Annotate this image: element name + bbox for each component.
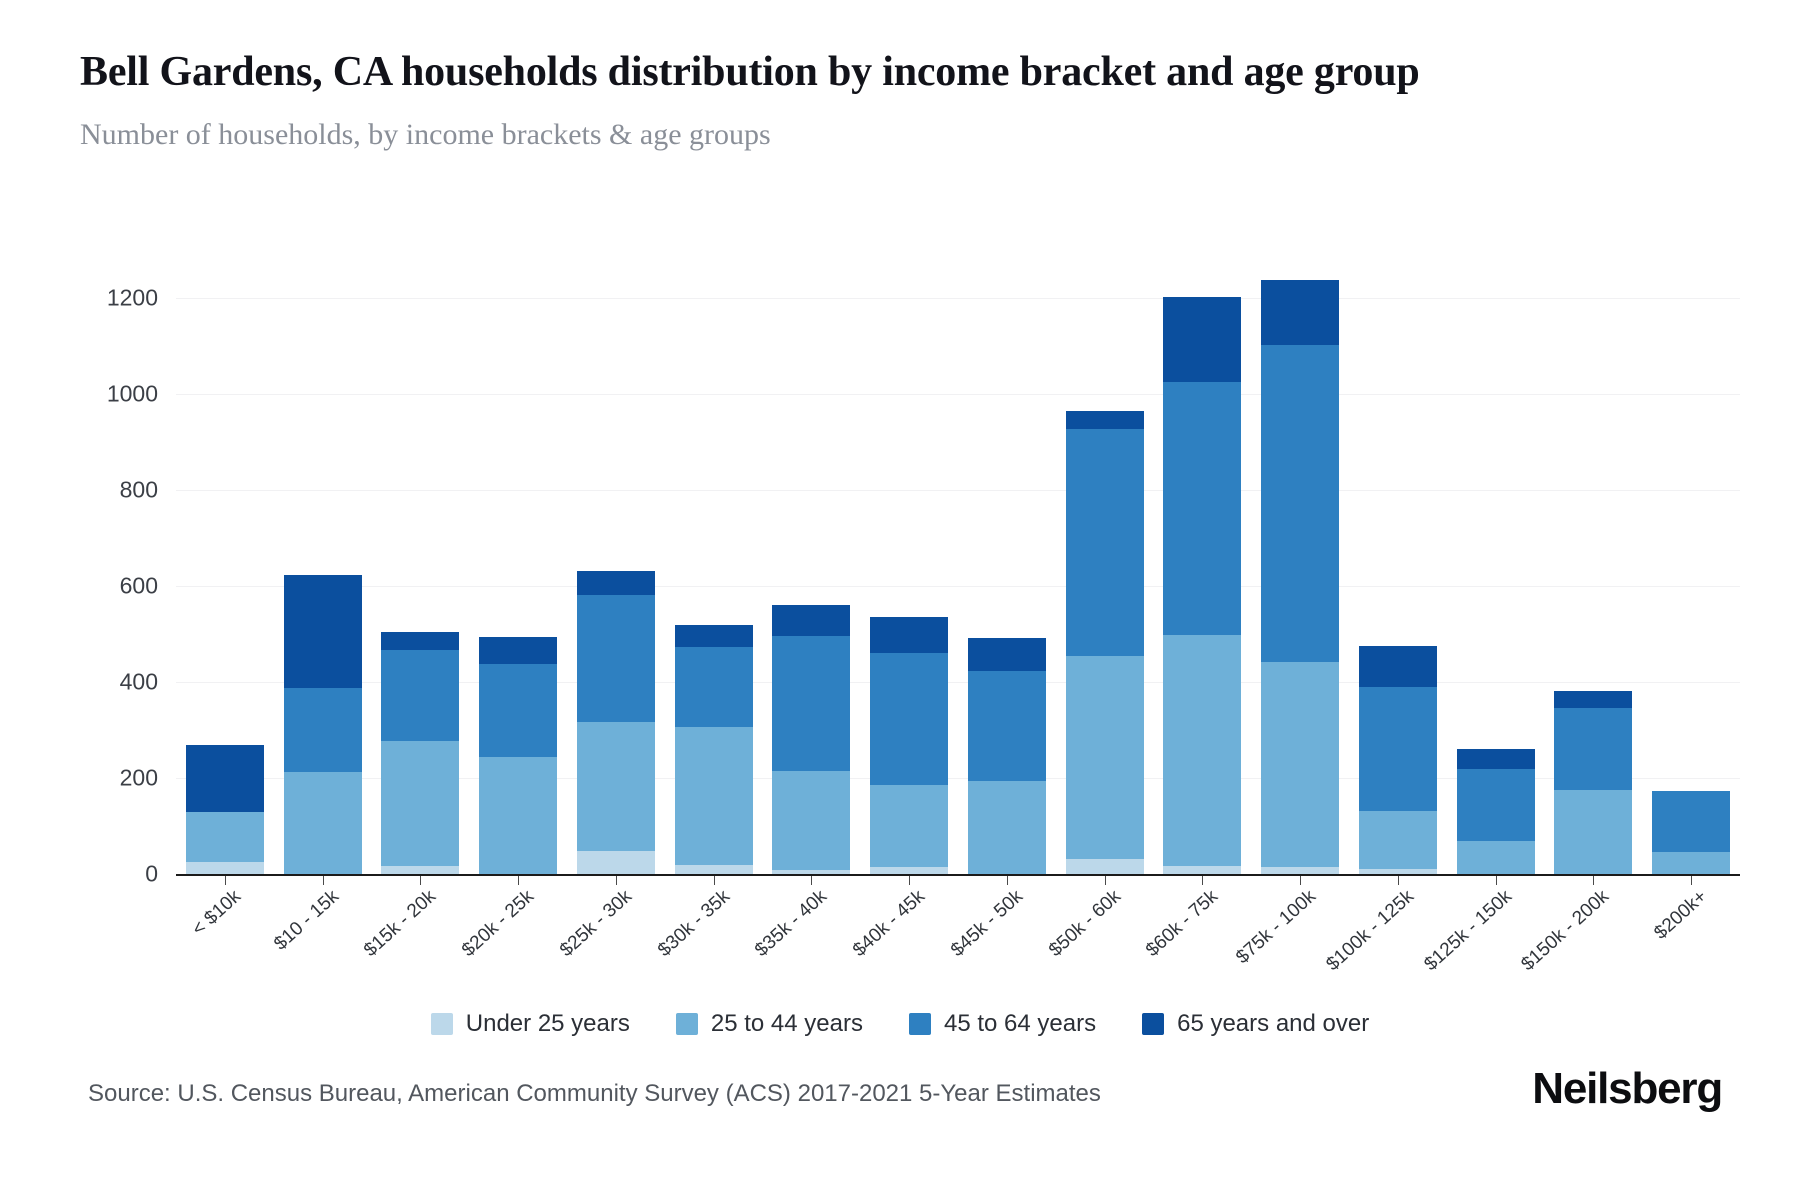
x-axis-label: $150k - 200k — [1518, 886, 1614, 976]
bar-segment[interactable] — [284, 575, 362, 687]
legend-item[interactable]: 45 to 64 years — [909, 1010, 1096, 1038]
x-axis-label: $25k - 30k — [556, 886, 637, 962]
bar-stack[interactable] — [577, 250, 655, 874]
bar-segment[interactable] — [186, 745, 264, 811]
x-axis-tick — [1300, 876, 1301, 885]
legend-swatch-icon — [431, 1013, 453, 1035]
bar-segment[interactable] — [1261, 867, 1339, 874]
bar-stack[interactable] — [1163, 250, 1241, 874]
bar-segment[interactable] — [479, 757, 557, 874]
x-axis-line — [176, 874, 1740, 876]
bar-stack[interactable] — [870, 250, 948, 874]
y-axis-tick-label: 400 — [120, 669, 158, 696]
x-axis-label: $10 - 15k — [270, 886, 344, 955]
bar-stack[interactable] — [479, 250, 557, 874]
legend-swatch-icon — [909, 1013, 931, 1035]
legend-item[interactable]: 25 to 44 years — [676, 1010, 863, 1038]
bar-segment[interactable] — [1261, 280, 1339, 344]
x-axis-label: $35k - 40k — [751, 886, 832, 962]
bar-stack[interactable] — [772, 250, 850, 874]
bar-segment[interactable] — [968, 638, 1046, 671]
legend-item[interactable]: 65 years and over — [1142, 1010, 1369, 1038]
bar-segment[interactable] — [577, 722, 655, 851]
bar-segment[interactable] — [284, 688, 362, 772]
x-axis-label: $15k - 20k — [360, 886, 441, 962]
bar-segment[interactable] — [1554, 790, 1632, 874]
x-axis-label: $75k - 100k — [1232, 886, 1321, 969]
bar-segment[interactable] — [1261, 662, 1339, 867]
bar-segment[interactable] — [381, 741, 459, 866]
x-axis-tick — [714, 876, 715, 885]
bar-stack[interactable] — [968, 250, 1046, 874]
x-axis-label: $30k - 35k — [654, 886, 735, 962]
bar-stack[interactable] — [284, 250, 362, 874]
x-axis-labels: < $10k$10 - 15k$15k - 20k$20k - 25k$25k … — [176, 886, 1740, 996]
bar-segment[interactable] — [1554, 691, 1632, 708]
x-axis-tick — [1691, 876, 1692, 885]
x-axis-tick — [323, 876, 324, 885]
bar-segment[interactable] — [1066, 656, 1144, 860]
bar-segment[interactable] — [186, 862, 264, 874]
plot-area: 020040060080010001200 < $10k$10 - 15k$15… — [80, 250, 1740, 920]
legend-label: 65 years and over — [1177, 1010, 1369, 1038]
bar-segment[interactable] — [772, 771, 850, 870]
bar-segment[interactable] — [1457, 749, 1535, 769]
x-axis-tick — [811, 876, 812, 885]
y-axis-tick-label: 1000 — [107, 381, 158, 408]
bar-segment[interactable] — [968, 671, 1046, 781]
chart-legend: Under 25 years25 to 44 years45 to 64 yea… — [0, 1010, 1800, 1038]
bar-segment[interactable] — [1554, 708, 1632, 791]
y-axis-tick-label: 600 — [120, 573, 158, 600]
legend-swatch-icon — [676, 1013, 698, 1035]
x-axis-label: $125k - 150k — [1420, 886, 1516, 976]
bar-stack[interactable] — [1457, 250, 1535, 874]
bar-segment[interactable] — [381, 632, 459, 650]
y-axis-tick-label: 800 — [120, 477, 158, 504]
bar-segment[interactable] — [675, 865, 753, 874]
x-axis-label: $45k - 50k — [947, 886, 1028, 962]
bar-stack[interactable] — [186, 250, 264, 874]
x-axis-tick — [1593, 876, 1594, 885]
source-note: Source: U.S. Census Bureau, American Com… — [88, 1080, 1101, 1108]
bar-stack[interactable] — [1261, 250, 1339, 874]
bar-segment[interactable] — [1457, 769, 1535, 841]
brand-logo: Neilsberg — [1532, 1064, 1722, 1114]
bar-segment[interactable] — [675, 625, 753, 648]
bar-segment[interactable] — [870, 785, 948, 868]
y-axis-tick-label: 200 — [120, 765, 158, 792]
x-axis-tick — [518, 876, 519, 885]
bar-segment[interactable] — [1163, 382, 1241, 635]
x-axis-tick — [616, 876, 617, 885]
page-title: Bell Gardens, CA households distribution… — [80, 48, 1600, 96]
bar-segment[interactable] — [675, 647, 753, 727]
bar-segment[interactable] — [577, 571, 655, 595]
bar-segment[interactable] — [284, 772, 362, 874]
bar-segment[interactable] — [1359, 646, 1437, 687]
bar-segment[interactable] — [381, 650, 459, 741]
x-axis-label: $100k - 125k — [1322, 886, 1418, 976]
bar-stack[interactable] — [1652, 250, 1730, 874]
bar-segment[interactable] — [1652, 791, 1730, 851]
bar-segment[interactable] — [1066, 411, 1144, 429]
legend-swatch-icon — [1142, 1013, 1164, 1035]
bar-segment[interactable] — [1359, 687, 1437, 811]
bar-segment[interactable] — [1066, 859, 1144, 874]
x-axis-tick — [909, 876, 910, 885]
bar-segment[interactable] — [675, 727, 753, 865]
bar-segment[interactable] — [1163, 866, 1241, 874]
bar-segment[interactable] — [1163, 635, 1241, 866]
x-axis-label: $40k - 45k — [849, 886, 930, 962]
x-axis-tick — [1202, 876, 1203, 885]
legend-label: Under 25 years — [466, 1010, 630, 1038]
y-axis-tick-label: 1200 — [107, 285, 158, 312]
bar-segment[interactable] — [186, 812, 264, 862]
x-axis-label: $200k+ — [1650, 886, 1711, 944]
x-axis-tick — [1105, 876, 1106, 885]
x-axis-tick — [1398, 876, 1399, 885]
x-axis-label: $20k - 25k — [458, 886, 539, 962]
bar-segment[interactable] — [577, 595, 655, 722]
bar-stack[interactable] — [1554, 250, 1632, 874]
chart-header: Bell Gardens, CA households distribution… — [80, 48, 1720, 152]
bar-stack[interactable] — [1359, 250, 1437, 874]
bar-segment[interactable] — [1457, 841, 1535, 874]
bar-segment[interactable] — [479, 664, 557, 757]
bar-segment[interactable] — [1066, 429, 1144, 656]
bar-segment[interactable] — [772, 636, 850, 771]
bar-stack[interactable] — [381, 250, 459, 874]
bar-series-container — [176, 250, 1740, 874]
x-axis-tick — [225, 876, 226, 885]
bar-segment[interactable] — [870, 867, 948, 874]
x-axis-label: < $10k — [188, 886, 246, 941]
bar-segment[interactable] — [577, 851, 655, 874]
y-axis: 020040060080010001200 — [80, 250, 170, 874]
legend-label: 25 to 44 years — [711, 1010, 863, 1038]
bar-segment[interactable] — [479, 637, 557, 664]
bar-segment[interactable] — [870, 617, 948, 653]
x-axis-tick — [1496, 876, 1497, 885]
bar-segment[interactable] — [1163, 297, 1241, 382]
x-axis-tick — [420, 876, 421, 885]
bar-segment[interactable] — [1359, 811, 1437, 869]
chart-subtitle: Number of households, by income brackets… — [80, 118, 1720, 152]
bar-segment[interactable] — [870, 653, 948, 785]
x-axis-tick — [1007, 876, 1008, 885]
legend-label: 45 to 64 years — [944, 1010, 1096, 1038]
bar-segment[interactable] — [968, 781, 1046, 874]
legend-item[interactable]: Under 25 years — [431, 1010, 630, 1038]
x-axis-label: $60k - 75k — [1142, 886, 1223, 962]
bar-segment[interactable] — [381, 866, 459, 874]
bar-segment[interactable] — [1652, 852, 1730, 874]
bar-segment[interactable] — [772, 605, 850, 636]
y-axis-tick-label: 0 — [145, 861, 158, 888]
bar-stack[interactable] — [1066, 250, 1144, 874]
chart-page: Bell Gardens, CA households distribution… — [0, 0, 1800, 1200]
x-axis-label: $50k - 60k — [1045, 886, 1126, 962]
bar-segment[interactable] — [1261, 345, 1339, 662]
bar-stack[interactable] — [675, 250, 753, 874]
